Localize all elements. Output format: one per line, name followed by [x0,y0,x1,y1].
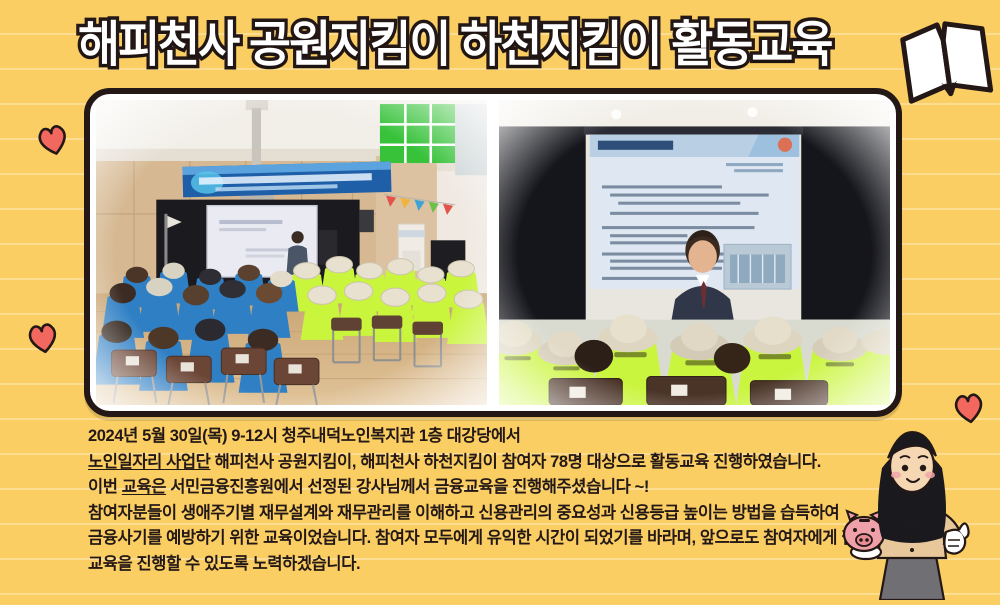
body-segment: 2024년 5월 30일(목) 9-12시 청주내덕노인복지관 1층 대강당에서 [88,427,521,445]
heart-icon [23,319,62,356]
woman-with-piggy-bank-illustration [826,418,998,600]
page-title: 해피천사 공원지킴이 하천지킴이 활동교육 [78,14,832,76]
heart-icon [33,120,74,159]
body-segment: 해피천사 공원지킴이, 해피천사 하천지킴이 참여자 78명 대상으로 활동교육… [210,453,820,471]
photo-card [84,88,902,417]
body-line: 노인일자리 사업단 해피천사 공원지킴이, 해피천사 하천지킴이 참여자 78명… [88,450,918,476]
photo-row [90,94,896,411]
body-segment: 참여자분들이 생애주기별 재무설계와 재무관리를 이해하고 신용관리의 중요성과… [88,504,839,522]
body-segment-underlined: 노인일자리 사업단 [88,453,210,471]
body-text: 2024년 5월 30일(목) 9-12시 청주내덕노인복지관 1층 대강당에서… [88,424,918,577]
body-segment: 교육을 진행할 수 있도록 노력하겠습니다. [88,555,360,573]
open-book-icon [898,16,994,104]
body-segment: 이번 [88,478,122,496]
body-segment: 금융사기를 예방하기 위한 교육이었습니다. 참여자 모두에게 유익한 시간이 … [88,529,900,547]
body-line: 이번 교육은 서민금융진흥원에서 선정된 강사님께서 금융교육을 진행해주셨습니… [88,475,918,501]
body-line: 2024년 5월 30일(목) 9-12시 청주내덕노인복지관 1층 대강당에서 [88,424,918,450]
photo-auditorium-wide [96,100,487,405]
body-segment: 서민금융진흥원에서 선정된 강사님께서 금융교육을 진행해주셨습니다 ~! [166,478,649,496]
body-line: 교육을 진행할 수 있도록 노력하겠습니다. [88,552,918,578]
body-line: 금융사기를 예방하기 위한 교육이었습니다. 참여자 모두에게 유익한 시간이 … [88,526,918,552]
title-area: 해피천사 공원지킴이 하천지킴이 활동교육 [0,8,1000,80]
photo-lecture-screen [499,100,890,405]
body-segment-underlined: 교육은 [122,478,166,496]
body-line: 참여자분들이 생애주기별 재무설계와 재무관리를 이해하고 신용관리의 중요성과… [88,501,918,527]
